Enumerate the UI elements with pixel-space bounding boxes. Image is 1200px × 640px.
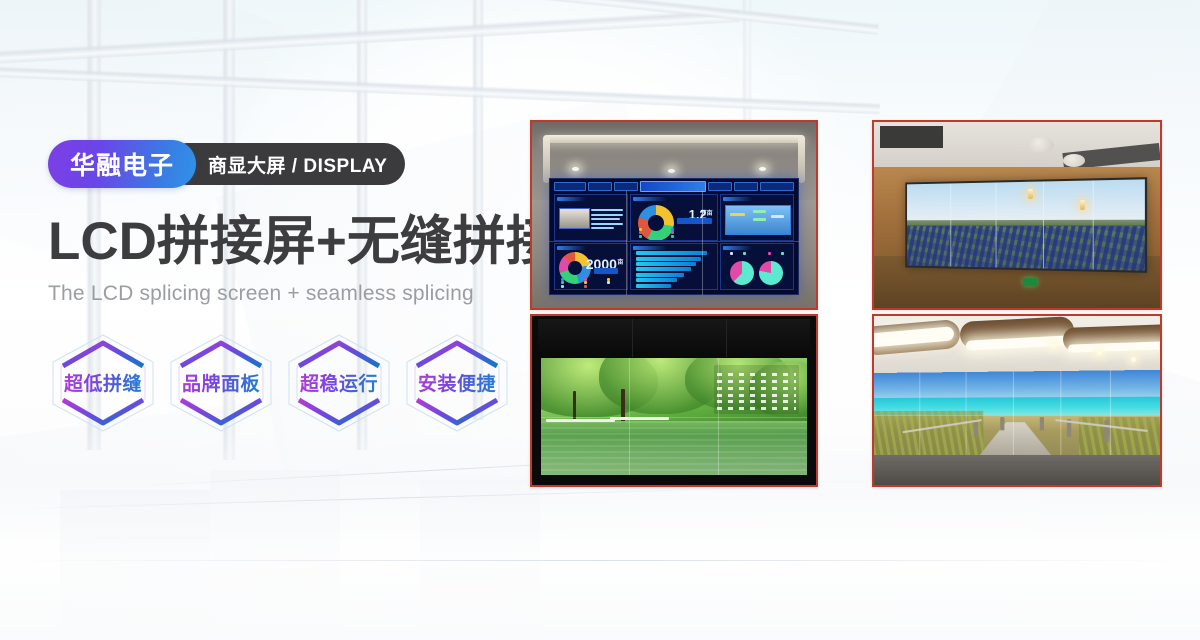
lcd-video-wall-solar-farm-photo[interactable] — [872, 120, 1162, 310]
calendar-overlay — [714, 365, 799, 414]
park-screen-content — [541, 358, 808, 475]
brand-badge[interactable]: 华融电子 — [48, 140, 196, 188]
beach-screen-content — [874, 370, 1160, 464]
feature-badge-1-label: 超低拼缝 — [64, 369, 142, 396]
solar-screen-content — [905, 177, 1147, 272]
page-subtitle: The LCD splicing screen + seamless splic… — [48, 282, 518, 306]
feature-badge-4[interactable]: 安装便捷 — [398, 330, 516, 436]
lcd-video-wall-beach-photo[interactable] — [872, 314, 1162, 487]
lcd-video-wall-park-photo[interactable] — [530, 314, 818, 487]
brand-pill-row: 华融电子 商显大屏 / DISPLAY — [48, 140, 518, 188]
lcd-video-wall-dashboard-photo[interactable]: 1.2 万亩 — [530, 120, 818, 310]
feature-badge-1[interactable]: 超低拼缝 — [44, 330, 162, 436]
feature-badge-2-label: 品牌面板 — [182, 369, 260, 396]
feature-badge-4-label: 安装便捷 — [418, 369, 496, 396]
background-floor-reflection-2 — [210, 470, 340, 640]
feature-badge-2[interactable]: 品牌面板 — [162, 330, 280, 436]
feature-badge-row: 超低拼缝 品牌面板 — [44, 330, 518, 436]
category-badge[interactable]: 商显大屏 / DISPLAY — [166, 143, 405, 185]
background-floor-reflection-3 — [420, 480, 540, 640]
dashboard-screen-content: 1.2 万亩 — [549, 178, 799, 295]
promotional-banner: 华融电子 商显大屏 / DISPLAY LCD拼接屏+无缝拼接 The LCD … — [0, 0, 1200, 640]
feature-badge-3-label: 超稳运行 — [300, 369, 378, 396]
background-floor-reflection — [60, 490, 210, 640]
feature-badge-3[interactable]: 超稳运行 — [280, 330, 398, 436]
banner-copy-block: 华融电子 商显大屏 / DISPLAY LCD拼接屏+无缝拼接 The LCD … — [48, 140, 518, 436]
page-title: LCD拼接屏+无缝拼接 — [48, 214, 518, 270]
